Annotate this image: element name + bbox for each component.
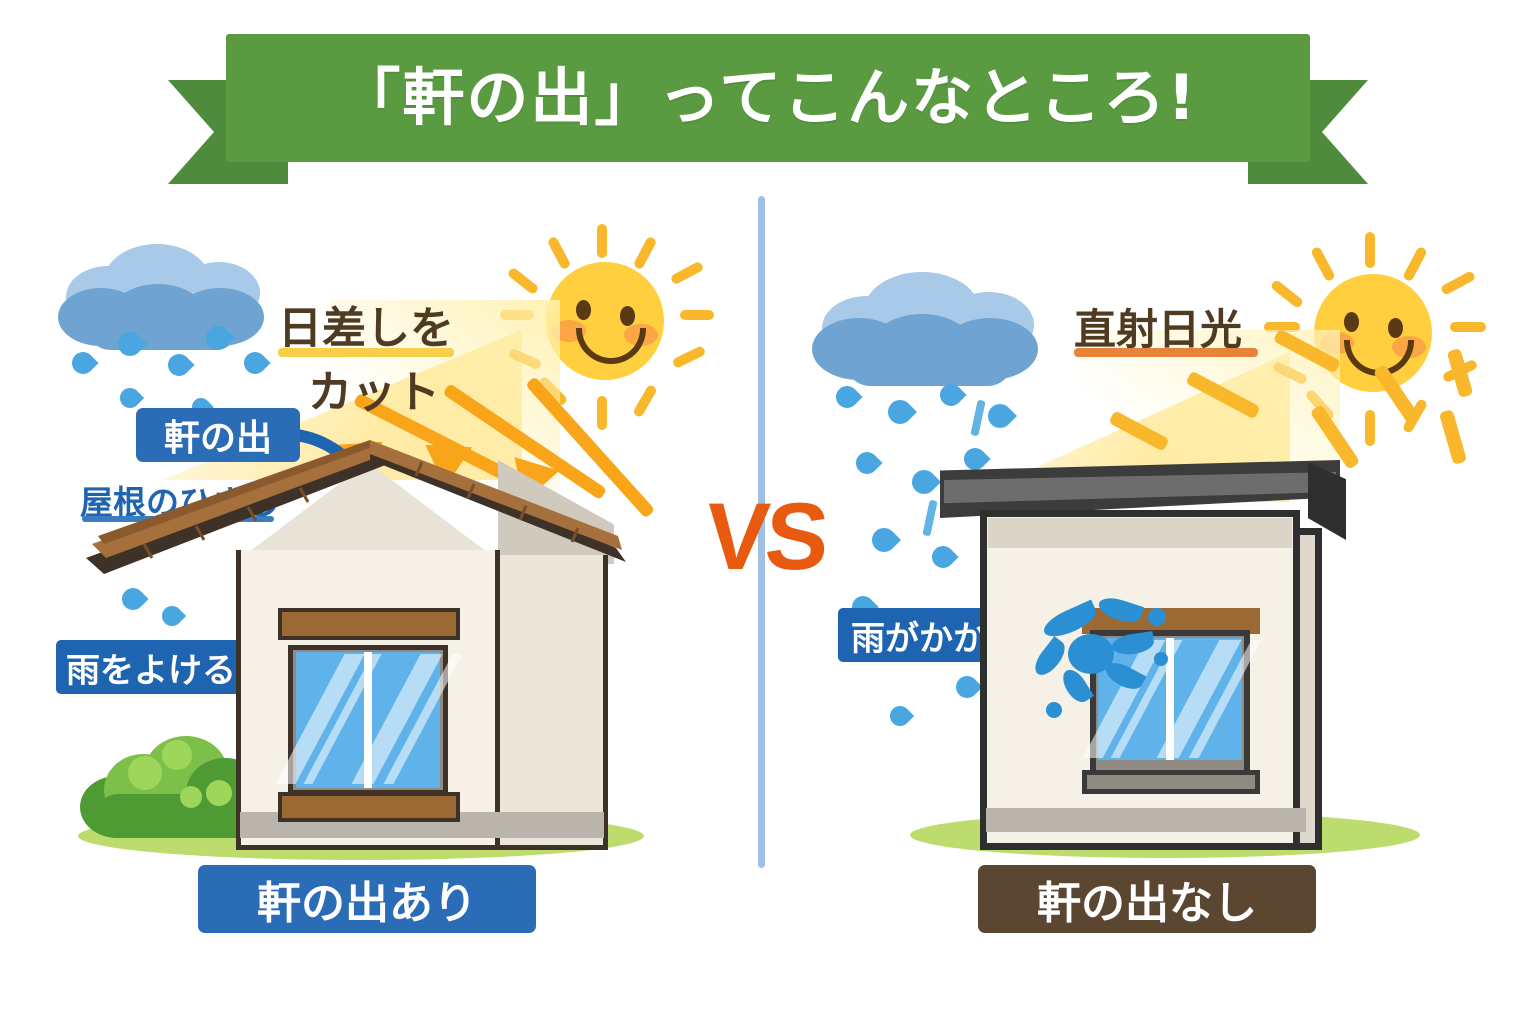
house-with-eaves-icon [70, 440, 670, 860]
window-sill [278, 792, 460, 822]
window-mullion [364, 652, 372, 788]
sunblock-label-line1: 日差しを [278, 292, 454, 356]
caption-with-eaves[interactable]: 軒の出あり [198, 865, 536, 933]
foundation [986, 808, 1306, 832]
caption-without-eaves[interactable]: 軒の出なし [978, 865, 1316, 933]
left-panel: 日差しを カット 軒の出 屋根のひさし 雨をよける [0, 0, 760, 1024]
right-panel: 直射日光 雨がかかる [760, 0, 1536, 1024]
rain-cloud-icon [58, 244, 268, 354]
rain-cloud-icon [812, 272, 1042, 387]
infographic-canvas: 「軒の出」ってこんなところ! VS [0, 0, 1536, 1024]
raindrop [883, 395, 917, 429]
raindrop [851, 447, 882, 478]
raindrop [163, 349, 194, 380]
raindrop [983, 399, 1017, 433]
water-splash-icon [1028, 590, 1188, 750]
direct-sun-underline [1074, 348, 1258, 357]
raindrop [867, 523, 901, 557]
sunblock-label-line2: カット [308, 356, 440, 420]
window-lintel [278, 608, 460, 640]
window-sill [1082, 770, 1260, 794]
house-wall-side [1300, 528, 1322, 850]
wall-shadow [988, 518, 1292, 548]
